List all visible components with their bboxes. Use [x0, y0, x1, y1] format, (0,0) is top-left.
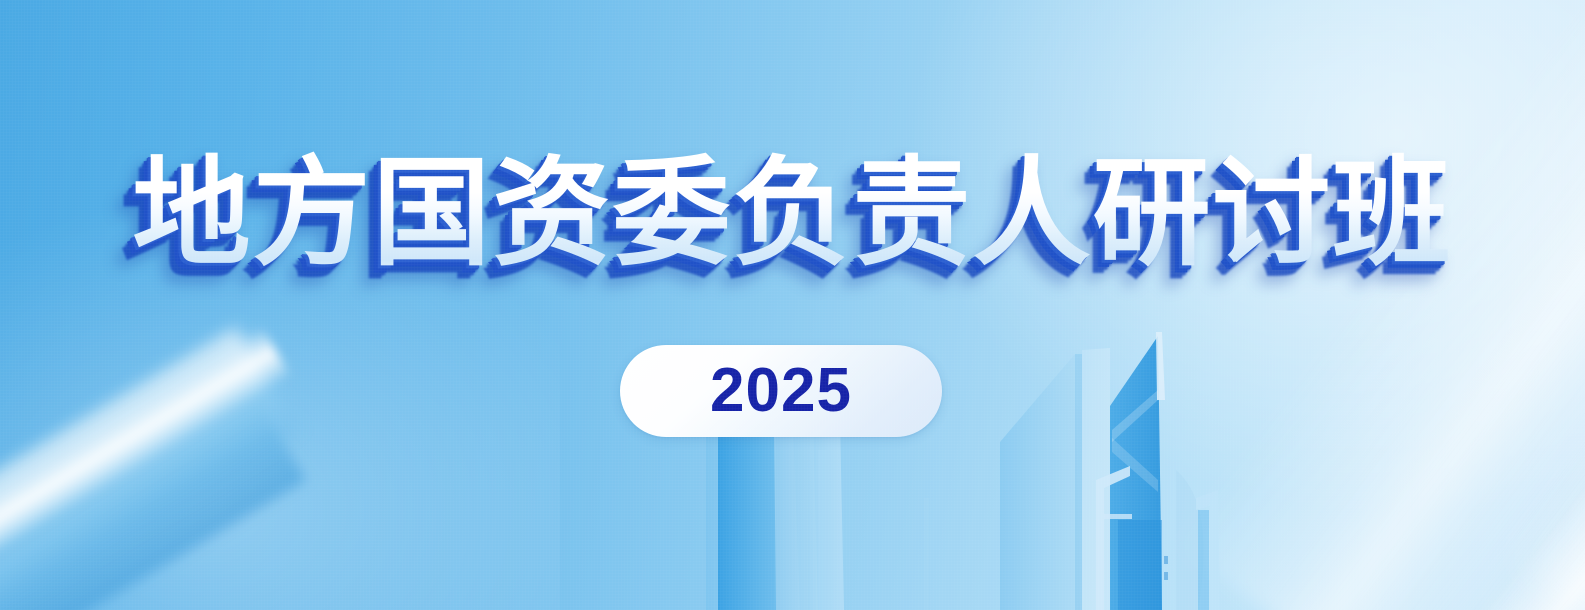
year-badge-label: 2025 — [710, 360, 852, 422]
year-badge: 2025 — [620, 345, 942, 437]
banner: 地方国资委负责人研讨班 2025 — [0, 0, 1585, 610]
light-swoosh-bottom-left-icon — [0, 310, 430, 610]
texture-overlay — [0, 0, 1585, 610]
banner-title: 地方国资委负责人研讨班 — [0, 150, 1585, 276]
light-beam-top-right-icon — [1173, 0, 1585, 610]
light-beam-secondary-icon — [1503, 0, 1585, 610]
